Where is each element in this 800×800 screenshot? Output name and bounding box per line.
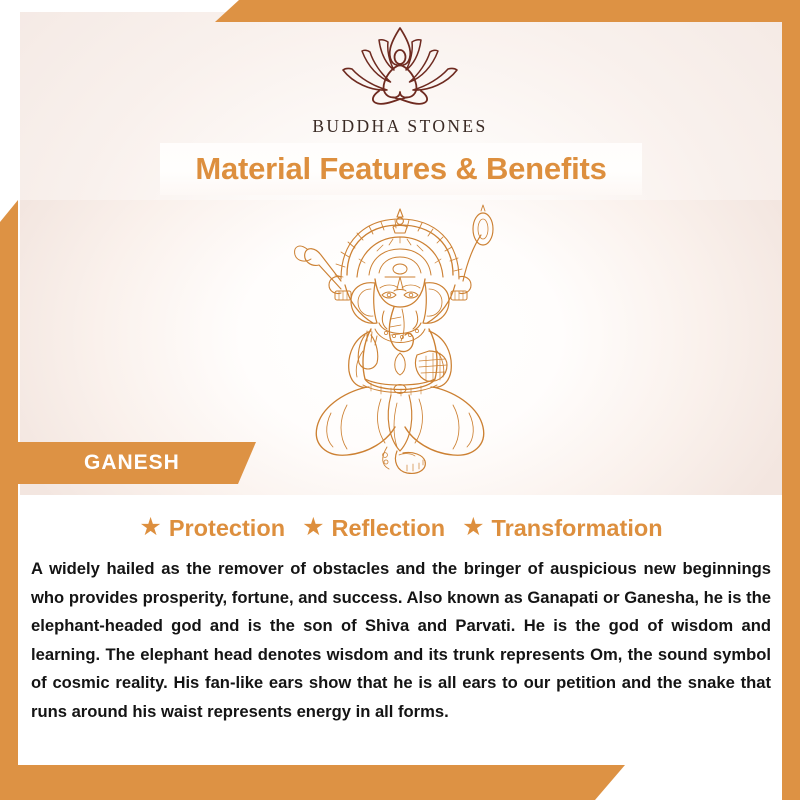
brand-logo: BUDDHA STONES [0, 24, 800, 137]
star-icon: ★ [139, 515, 161, 540]
frame-bar-bottom [0, 765, 625, 800]
deity-name-ribbon: GANESH [18, 442, 256, 484]
feature-list: ★ Protection ★ Reflection ★ Transformati… [20, 495, 782, 542]
ganesha-line-art-icon [285, 203, 515, 493]
feature-label: Transformation [492, 515, 663, 542]
lotus-meditation-icon [325, 24, 475, 110]
feature-label: Protection [169, 515, 285, 542]
feature-item-transformation: ★ Transformation [462, 515, 662, 542]
brand-name: BUDDHA STONES [312, 116, 487, 137]
content-card: ★ Protection ★ Reflection ★ Transformati… [20, 495, 782, 765]
frame-bar-left [0, 200, 18, 800]
page-title: Material Features & Benefits [195, 151, 606, 187]
frame-bar-top [215, 0, 800, 22]
star-icon: ★ [302, 515, 324, 540]
feature-label: Reflection [331, 515, 445, 542]
description-paragraph: A widely hailed as the remover of obstac… [31, 555, 771, 726]
deity-name-label: GANESH [84, 451, 180, 475]
poster: BUDDHA STONES Material Features & Benefi… [0, 0, 800, 800]
star-icon: ★ [462, 515, 484, 540]
feature-item-protection: ★ Protection [139, 515, 285, 542]
feature-item-reflection: ★ Reflection [302, 515, 445, 542]
title-band: Material Features & Benefits [160, 143, 642, 195]
